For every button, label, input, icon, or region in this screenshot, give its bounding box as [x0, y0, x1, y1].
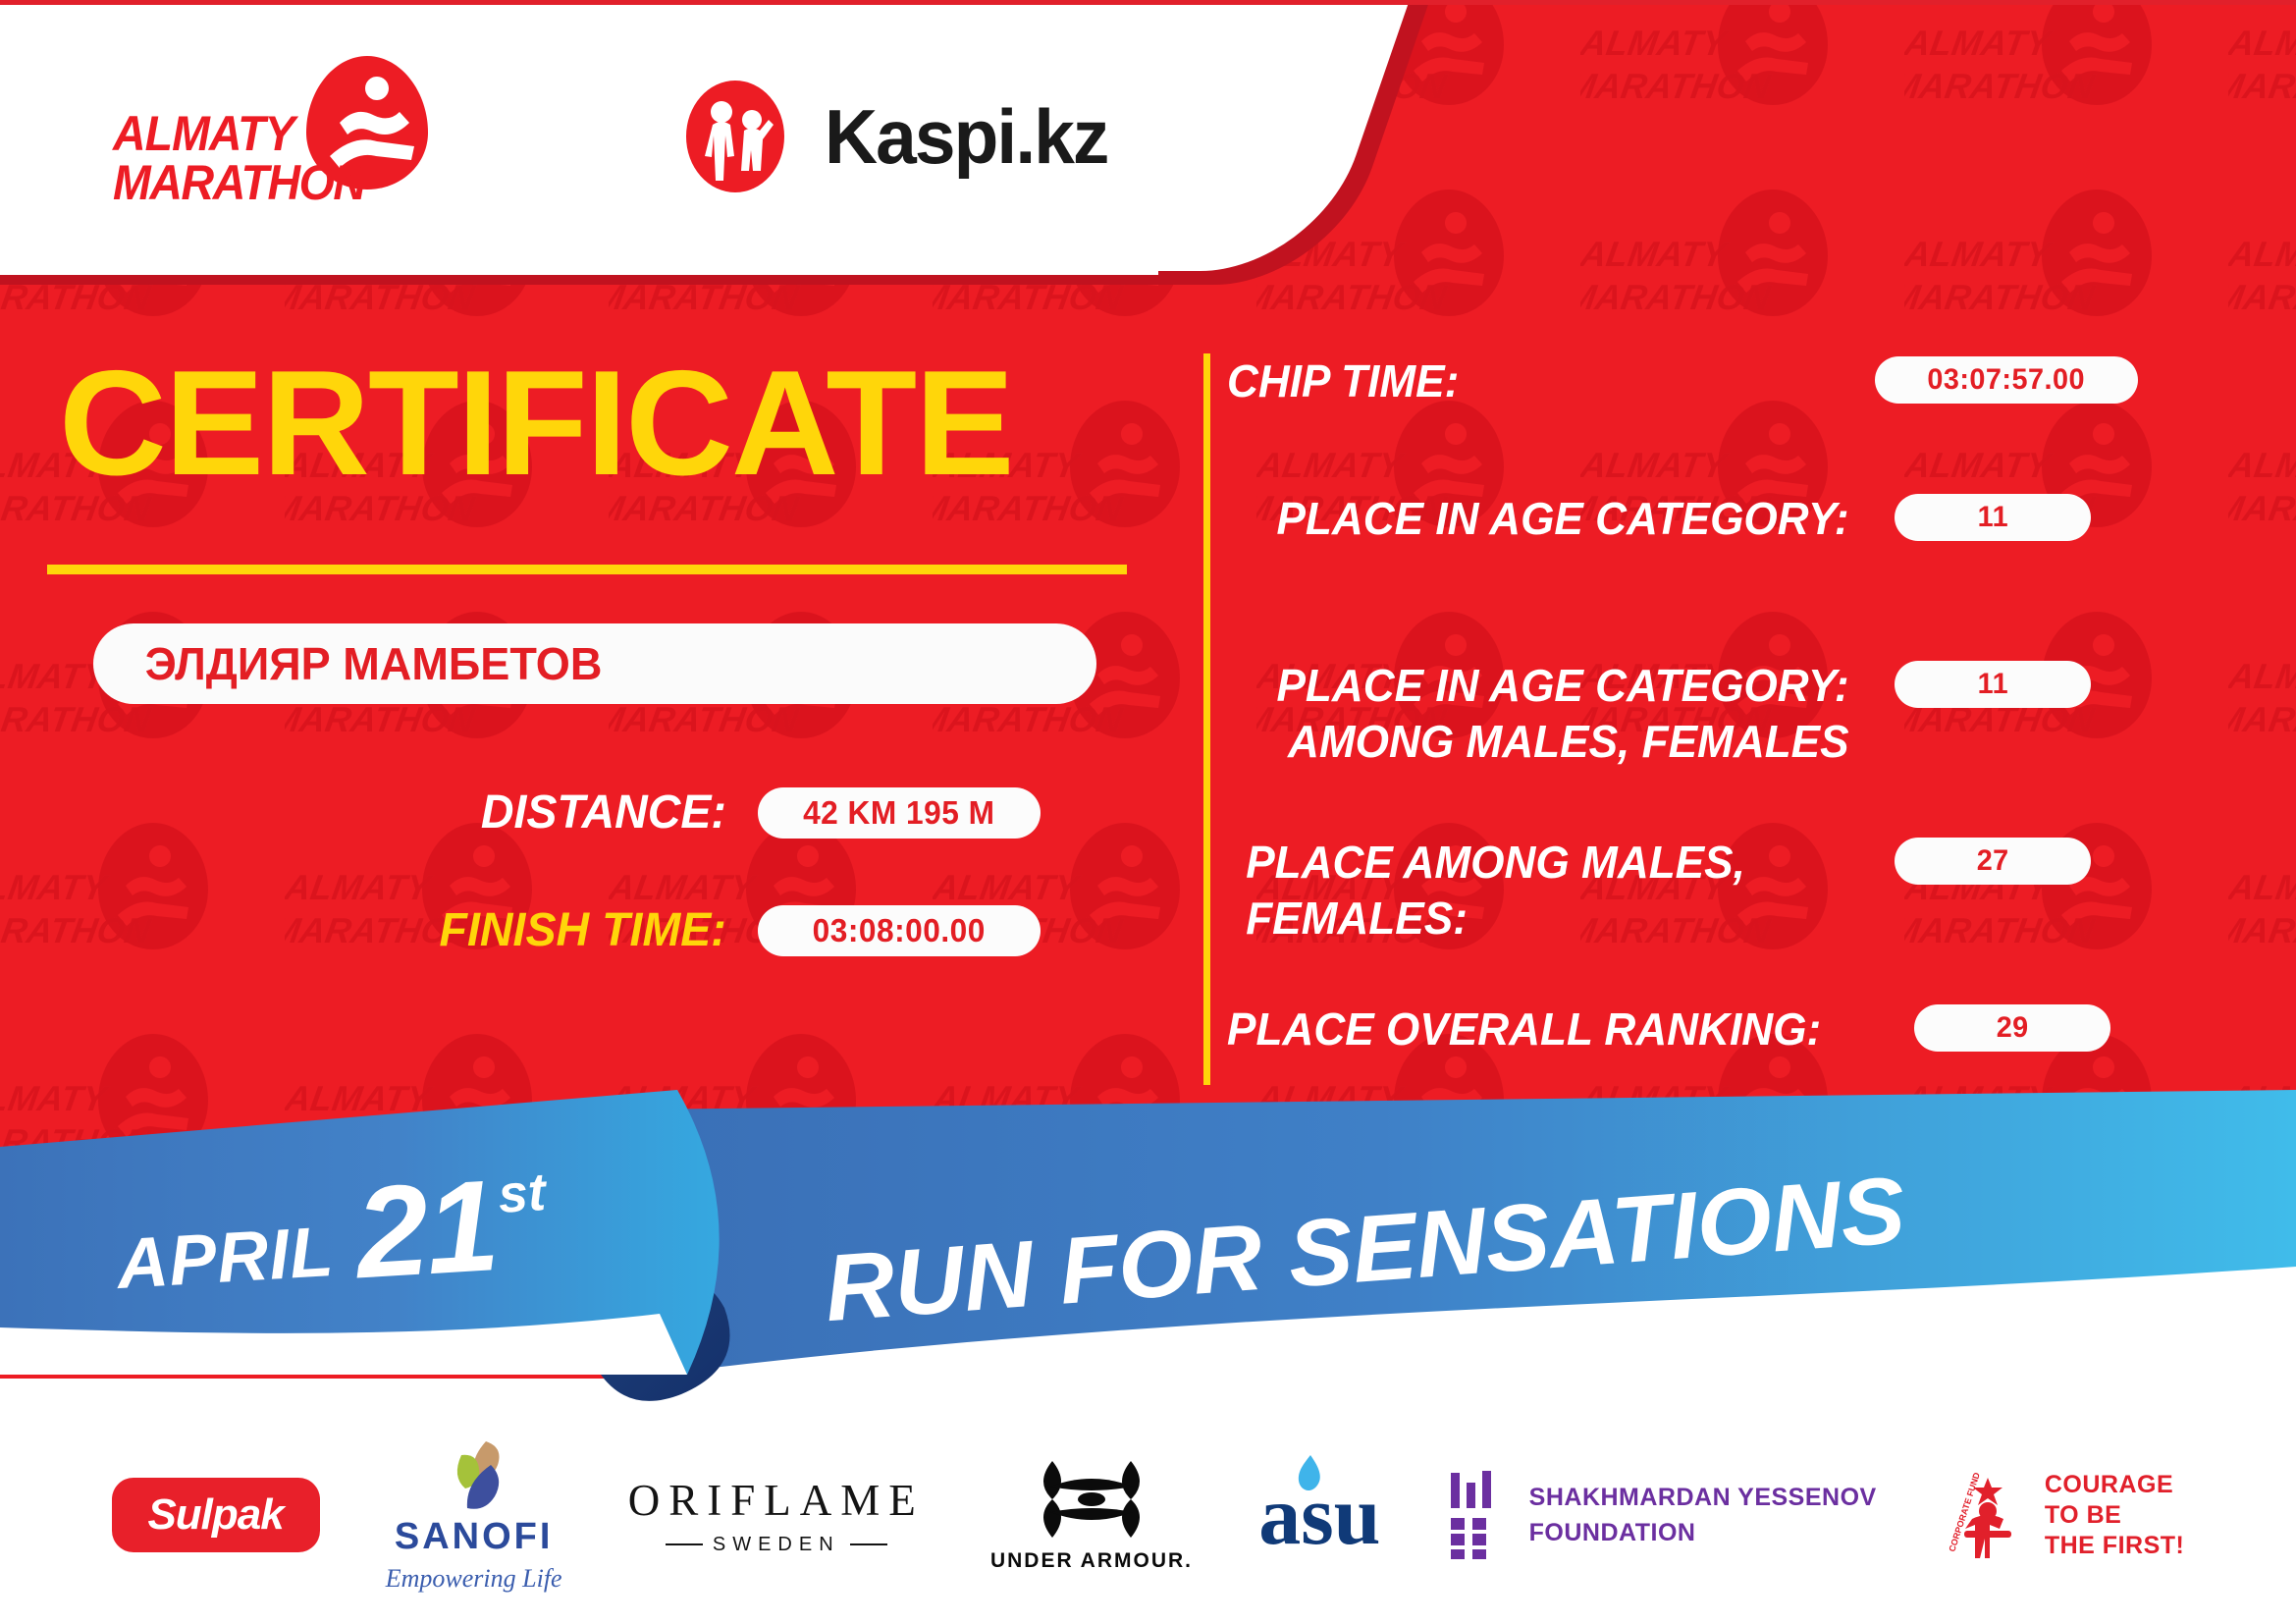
yessenov-foundation-logo: [1447, 1471, 1508, 1559]
kaspi-logo[interactable]: Kaspi.kz: [677, 79, 1113, 194]
sponsor-courage-fund[interactable]: CORPORATE FUND COURAGE TO BE THE FIRST!: [1943, 1468, 2185, 1562]
sanofi-logo: [432, 1437, 516, 1512]
sulpak-logo: Sulpak: [112, 1478, 320, 1552]
distance-row: DISTANCE: 42 KM 195 M: [0, 785, 1041, 839]
yessenov-line2: FOUNDATION: [1529, 1515, 1877, 1550]
distance-value: 42 KM 195 M: [803, 794, 994, 832]
sponsor-under-armour[interactable]: UNDER ARMOUR.: [990, 1457, 1193, 1573]
event-day-suffix: st: [497, 1162, 548, 1225]
header-logos: ALMATY MARATHON Kaspi.kz: [0, 0, 1178, 280]
result-value: 29: [1997, 1011, 2029, 1045]
result-row-overall: PLACE OVERALL RANKING: 29: [1227, 1001, 2238, 1057]
result-row-place-age: PLACE IN AGE CATEGORY: 11: [1227, 491, 2238, 547]
top-red-rule: [0, 0, 2296, 5]
almaty-marathon-logo[interactable]: ALMATY MARATHON: [113, 54, 447, 221]
divider-right: [850, 1543, 887, 1545]
result-value: 11: [1977, 501, 2007, 534]
column-divider: [1203, 353, 1210, 1085]
courage-line3: THE FIRST!: [2045, 1531, 2185, 1561]
courage-line2: TO BE: [2045, 1500, 2185, 1531]
result-label: PLACE IN AGE CATEGORY: AMONG MALES, FEMA…: [1227, 658, 1849, 770]
sanofi-wordmark: SANOFI: [395, 1516, 554, 1558]
almaty-marathon-wordmark: ALMATY MARATHON: [113, 109, 365, 207]
oriflame-wordmark: ORIFLAME: [628, 1475, 925, 1526]
sanofi-tagline: Empowering Life: [386, 1564, 562, 1594]
result-value-pill: 11: [1895, 494, 2091, 541]
title-underline: [47, 565, 1127, 574]
sponsor-sulpak[interactable]: Sulpak: [112, 1478, 320, 1552]
finish-time-label: FINISH TIME:: [439, 903, 725, 957]
sponsors-bar: Sulpak SANOFI Empowering Life ORIFLAME S…: [0, 1406, 2296, 1624]
kaspi-wordmark: Kaspi.kz: [825, 92, 1107, 182]
result-value: 11: [1977, 668, 2007, 701]
result-value-pill: 11: [1895, 661, 2091, 708]
finish-time-value-pill: 03:08:00.00: [758, 905, 1041, 956]
athlete-name: ЭЛДИЯР МАМБЕТОВ: [145, 637, 603, 690]
result-value: 03:07:57.00: [1928, 363, 2086, 397]
sponsor-sanofi[interactable]: SANOFI Empowering Life: [386, 1437, 562, 1594]
result-row-place-mf: PLACE AMONG MALES, FEMALES: 27: [1227, 835, 2238, 947]
sponsor-asu[interactable]: asu: [1258, 1471, 1380, 1559]
courage-line1: COURAGE: [2045, 1470, 2185, 1500]
result-label: PLACE IN AGE CATEGORY:: [1227, 491, 1849, 547]
asu-droplet-icon: [1296, 1453, 1325, 1494]
result-value-pill: 03:07:57.00: [1875, 356, 2138, 404]
event-day: 21: [351, 1151, 501, 1307]
oriflame-sub: SWEDEN: [666, 1534, 887, 1556]
event-date: APRIL 21 st: [112, 1148, 552, 1322]
results-column: CHIP TIME: 03:07:57.00 PLACE IN AGE CATE…: [1227, 353, 2258, 1100]
event-month: APRIL: [115, 1212, 336, 1305]
result-value-pill: 27: [1895, 838, 2091, 885]
result-row-place-age-mf: PLACE IN AGE CATEGORY: AMONG MALES, FEMA…: [1227, 658, 2238, 770]
kaspi-people-icon: [677, 79, 793, 194]
under-armour-logo: [1037, 1457, 1147, 1542]
sulpak-wordmark: Sulpak: [147, 1490, 283, 1540]
event-ribbon: APRIL 21 st RUN FOR SENSATIONS: [0, 1080, 2296, 1404]
distance-label: DISTANCE:: [481, 785, 726, 839]
courage-to-be-the-first-logo: CORPORATE FUND: [1943, 1468, 2033, 1562]
oriflame-country: SWEDEN: [713, 1534, 840, 1556]
almaty-logo-line1: ALMATY: [113, 109, 365, 158]
finish-time-row: FINISH TIME: 03:08:00.00: [0, 903, 1041, 957]
result-label: PLACE AMONG MALES, FEMALES:: [1227, 835, 1849, 947]
result-value: 27: [1977, 844, 2009, 878]
sponsor-oriflame[interactable]: ORIFLAME SWEDEN: [628, 1475, 925, 1556]
certificate-canvas: ALMATY MARATHON ALMATY MARATHON: [0, 0, 2296, 1624]
page-title: CERTIFICATE: [59, 349, 1013, 498]
sponsor-yessenov-foundation[interactable]: SHAKHMARDAN YESSENOV FOUNDATION: [1447, 1471, 1877, 1559]
distance-value-pill: 42 KM 195 M: [758, 787, 1041, 839]
left-column: CERTIFICATE ЭЛДИЯР МАМБЕТОВ DISTANCE: 42…: [0, 324, 1168, 1070]
finish-time-value: 03:08:00.00: [813, 912, 986, 949]
divider-left: [666, 1543, 703, 1545]
result-label: CHIP TIME:: [1227, 353, 1830, 409]
under-armour-wordmark: UNDER ARMOUR.: [990, 1549, 1193, 1573]
athlete-name-field: ЭЛДИЯР МАМБЕТОВ: [93, 623, 1096, 704]
yessenov-line1: SHAKHMARDAN YESSENOV: [1529, 1480, 1877, 1515]
result-label: PLACE OVERALL RANKING:: [1227, 1001, 1877, 1057]
result-row-chip-time: CHIP TIME: 03:07:57.00: [1227, 353, 2238, 409]
result-value-pill: 29: [1914, 1004, 2110, 1052]
almaty-logo-line2: MARATHON: [113, 158, 365, 207]
